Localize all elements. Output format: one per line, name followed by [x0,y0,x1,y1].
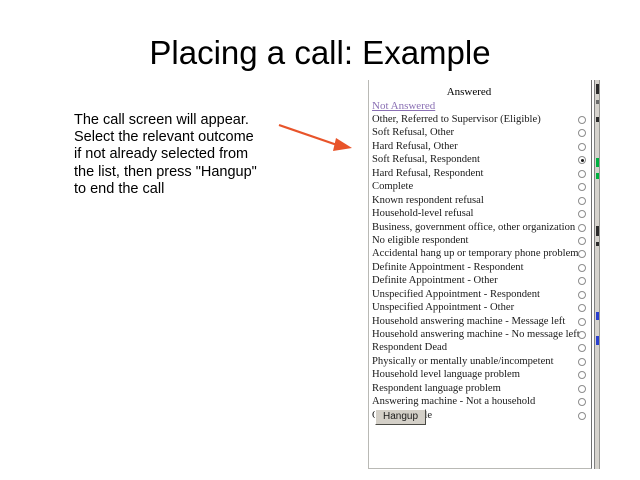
outcome-row[interactable]: Business, government office, other organ… [369,221,592,234]
outcome-row[interactable]: Household answering machine - Message le… [369,315,592,328]
outcome-row[interactable]: No eligible respondent [369,234,592,247]
outcome-radio[interactable] [578,291,586,299]
outcome-label: Physically or mentally unable/incompeten… [372,355,554,368]
outcome-radio[interactable] [578,264,586,272]
outcome-row[interactable]: Definite Appointment - Other [369,274,592,287]
outcome-radio[interactable] [578,143,586,151]
hangup-button[interactable]: Hangup [375,409,426,425]
outcome-label: Unspecified Appointment - Respondent [372,288,540,301]
outcome-radio[interactable] [578,371,586,379]
instruction-caption: The call screen will appear. Select the … [74,112,289,198]
outcome-label: Answering machine - Not a household [372,395,535,408]
outcome-row[interactable]: Answering machine - Not a household [369,395,592,408]
outcome-label: Hard Refusal, Other [372,140,458,153]
outcome-label: Household answering machine - No message… [372,328,580,341]
outcome-radio[interactable] [578,385,586,393]
outcome-row[interactable]: Respondent Dead [369,341,592,354]
outcome-radio[interactable] [578,129,586,137]
outcome-radio[interactable] [578,116,586,124]
scrollbar-mark [596,100,599,104]
outcome-row[interactable]: Household level language problem [369,368,592,381]
outcome-row[interactable]: Unspecified Appointment - Other [369,301,592,314]
caption-line: to end the call [74,181,289,198]
outcome-label: Soft Refusal, Respondent [372,153,480,166]
outcome-radio[interactable] [578,358,586,366]
caption-line: the list, then press "Hangup" [74,164,289,181]
outcome-radio[interactable] [578,344,586,352]
outcome-radio[interactable] [578,224,586,232]
outcome-label: Respondent Dead [372,341,447,354]
outcome-label: Other, Referred to Supervisor (Eligible) [372,113,541,126]
outcome-row[interactable]: Definite Appointment - Respondent [369,261,592,274]
outcome-row[interactable]: Household-level refusal [369,207,592,220]
outcome-row[interactable]: Accidental hang up or temporary phone pr… [369,247,592,260]
outcome-row[interactable]: Known respondent refusal [369,194,592,207]
outcome-row[interactable]: Complete [369,180,592,193]
outcome-row[interactable]: Soft Refusal, Other [369,126,592,139]
outcome-radio[interactable] [578,170,586,178]
outcome-label: Unspecified Appointment - Other [372,301,514,314]
outcome-row[interactable]: Household answering machine - No message… [369,328,592,341]
caption-line: Select the relevant outcome [74,129,289,146]
not-answered-link[interactable]: Not Answered [372,100,435,112]
outcome-row[interactable]: Physically or mentally unable/incompeten… [369,355,592,368]
slide-canvas: Placing a call: Example The call screen … [0,0,640,480]
outcome-radio[interactable] [578,210,586,218]
outcome-label: No eligible respondent [372,234,469,247]
outcome-label: Respondent language problem [372,382,501,395]
outcome-radio[interactable] [578,331,586,339]
scrollbar-mark [596,312,599,320]
call-outcome-list: Other, Referred to Supervisor (Eligible)… [369,113,592,422]
outcome-label: Definite Appointment - Other [372,274,498,287]
call-screen-panel: Answered Not Answered Other, Referred to… [368,80,592,469]
outcome-radio[interactable] [578,183,586,191]
outcome-row[interactable]: Hard Refusal, Other [369,140,592,153]
window-scrollbar-edge[interactable] [594,80,600,469]
scrollbar-mark [596,226,599,236]
outcome-label: Household-level refusal [372,207,474,220]
outcome-label: Soft Refusal, Other [372,126,454,139]
scrollbar-mark [596,173,599,179]
page-title: Placing a call: Example [0,34,640,72]
outcome-radio-selected[interactable] [578,156,586,164]
outcome-row[interactable]: Respondent language problem [369,382,592,395]
scrollbar-mark [596,336,599,345]
outcome-label: Business, government office, other organ… [372,221,575,234]
outcome-radio[interactable] [578,197,586,205]
outcome-label: Household answering machine - Message le… [372,315,565,328]
outcome-radio[interactable] [578,237,586,245]
outcome-label: Known respondent refusal [372,194,484,207]
scrollbar-mark [596,158,599,167]
outcome-row[interactable]: Soft Refusal, Respondent [369,153,592,166]
outcome-radio[interactable] [578,412,586,420]
pointer-arrow-icon [278,118,360,158]
scrollbar-mark [596,84,599,94]
outcome-label: Hard Refusal, Respondent [372,167,484,180]
outcome-row[interactable]: Hard Refusal, Respondent [369,167,592,180]
caption-line: The call screen will appear. [74,112,289,129]
caption-line: if not already selected from [74,146,289,163]
outcome-label: Definite Appointment - Respondent [372,261,524,274]
outcome-radio[interactable] [578,304,586,312]
outcome-label: Household level language problem [372,368,520,381]
answered-section-header: Answered [369,86,569,98]
outcome-label: Accidental hang up or temporary phone pr… [372,247,579,260]
scrollbar-mark [596,242,599,246]
scrollbar-mark [596,117,599,122]
outcome-label: Complete [372,180,413,193]
outcome-row[interactable]: Unspecified Appointment - Respondent [369,288,592,301]
outcome-radio[interactable] [578,318,586,326]
outcome-row[interactable]: Other, Referred to Supervisor (Eligible) [369,113,592,126]
outcome-radio[interactable] [578,250,586,258]
outcome-radio[interactable] [578,398,586,406]
outcome-radio[interactable] [578,277,586,285]
